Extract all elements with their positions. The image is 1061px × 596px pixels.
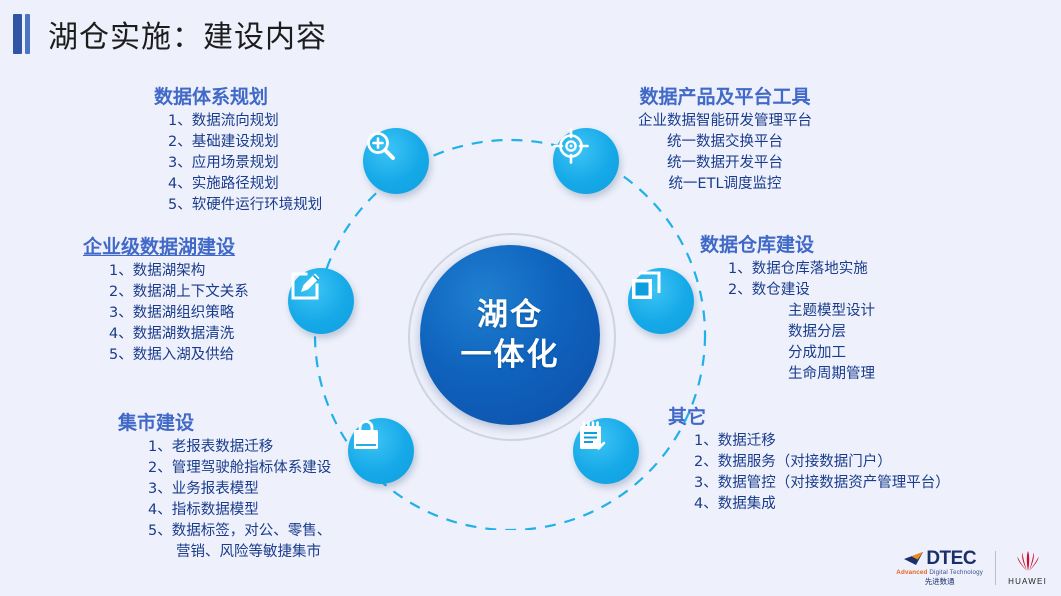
page-title: 湖仓实施：建设内容 [48, 12, 327, 56]
dtec-mark-icon [903, 551, 925, 566]
block-heading-lake: 企业级数据湖建设 [83, 232, 249, 259]
list-item: 5、数据入湖及供给 [109, 345, 249, 366]
slide-canvas: 湖仓实施：建设内容 数据体系规划 1、数据流向规划 2、基础建设规划 3、应用场… [0, 0, 1061, 596]
zoom-in-icon [363, 128, 399, 164]
huawei-wordmark: HUAWEI [1008, 577, 1047, 586]
node-data-mart[interactable] [348, 418, 414, 484]
logo-divider [995, 551, 996, 585]
dtec-logo: DTEC Advanced Digital Technology 先进数通 [896, 549, 983, 586]
node-data-system-planning[interactable] [363, 128, 429, 194]
huawei-flower-icon [1011, 549, 1045, 575]
list-item: 4、数据湖数据清洗 [109, 324, 249, 345]
edit-icon [288, 268, 324, 304]
node-other[interactable] [573, 418, 639, 484]
center-label-line1: 湖仓 [477, 295, 543, 335]
hub-diagram: 湖仓 一体化 [250, 110, 770, 530]
block-heading-planning: 数据体系规划 [154, 82, 322, 109]
node-enterprise-data-lake[interactable] [288, 268, 354, 334]
shopping-bag-icon [348, 418, 384, 454]
block-enterprise-data-lake: 企业级数据湖建设 1、数据湖架构 2、数据湖上下文关系 3、数据湖组织策略 4、… [83, 232, 249, 366]
list-item: 2、数据湖上下文关系 [109, 282, 249, 303]
checklist-icon [573, 418, 609, 454]
target-icon [553, 128, 589, 164]
block-list-lake: 1、数据湖架构 2、数据湖上下文关系 3、数据湖组织策略 4、数据湖数据清洗 5… [83, 261, 249, 366]
list-item: 3、数据湖组织策略 [109, 303, 249, 324]
slide-title-bar: 湖仓实施：建设内容 [13, 12, 327, 56]
dtec-tagline: Advanced Digital Technology [896, 570, 983, 576]
copy-icon [628, 268, 664, 304]
logo-bar: DTEC Advanced Digital Technology 先进数通 HU… [896, 549, 1047, 586]
node-data-products-platform-tools[interactable] [553, 128, 619, 194]
node-data-warehouse[interactable] [628, 268, 694, 334]
center-hub: 湖仓 一体化 [420, 245, 600, 425]
list-item: 1、数据湖架构 [109, 261, 249, 282]
block-heading-product: 数据产品及平台工具 [600, 82, 850, 109]
dtec-chinese-name: 先进数通 [925, 578, 955, 586]
dtec-tagline-rest: Digital Technology [929, 569, 983, 576]
huawei-logo: HUAWEI [1008, 549, 1047, 586]
dtec-tagline-advanced: Advanced [896, 569, 927, 576]
dtec-wordmark: DTEC [926, 549, 976, 568]
center-label-line2: 一体化 [461, 335, 560, 375]
title-accent-bars [13, 14, 30, 54]
list-item-continuation: 营销、风险等敏捷集市 [148, 542, 331, 563]
